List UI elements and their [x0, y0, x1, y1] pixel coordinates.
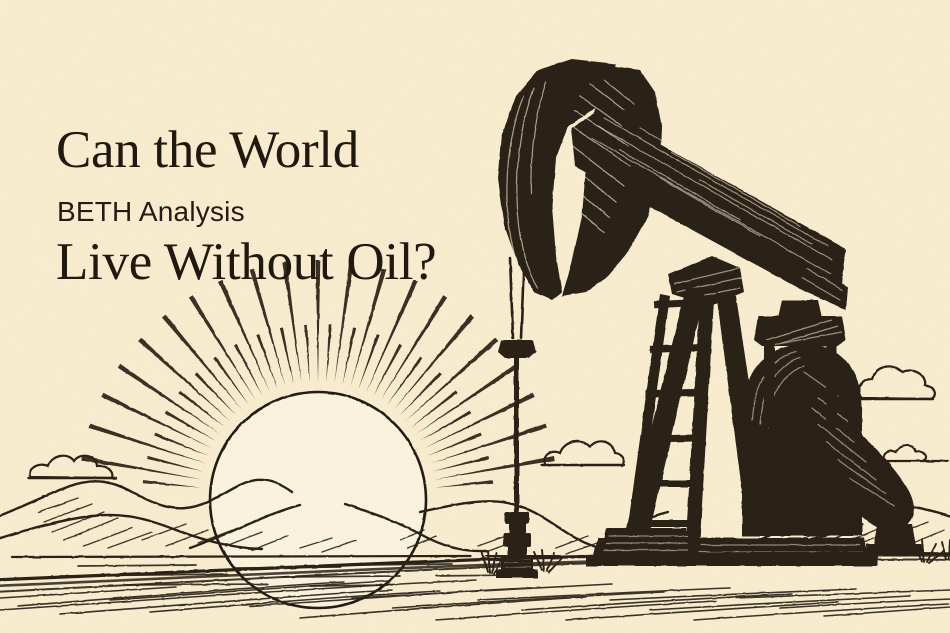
- base-block-left: [600, 528, 690, 556]
- page-subtitle: BETH Analysis: [57, 196, 245, 228]
- page-title-line-1: Can the World: [56, 122, 436, 178]
- polished-rod: [514, 356, 519, 516]
- polished-rod-clamp: [498, 340, 536, 358]
- pitman-pedestal: [874, 524, 916, 546]
- crank-top-knuckle: [778, 300, 822, 318]
- page-title-line-2: Live Without Oil?: [56, 234, 436, 290]
- poster-canvas: Can the World Live Without Oil? BETH Ana…: [0, 0, 950, 633]
- crank-rod-left: [764, 340, 775, 428]
- crank-rod-right: [826, 340, 837, 428]
